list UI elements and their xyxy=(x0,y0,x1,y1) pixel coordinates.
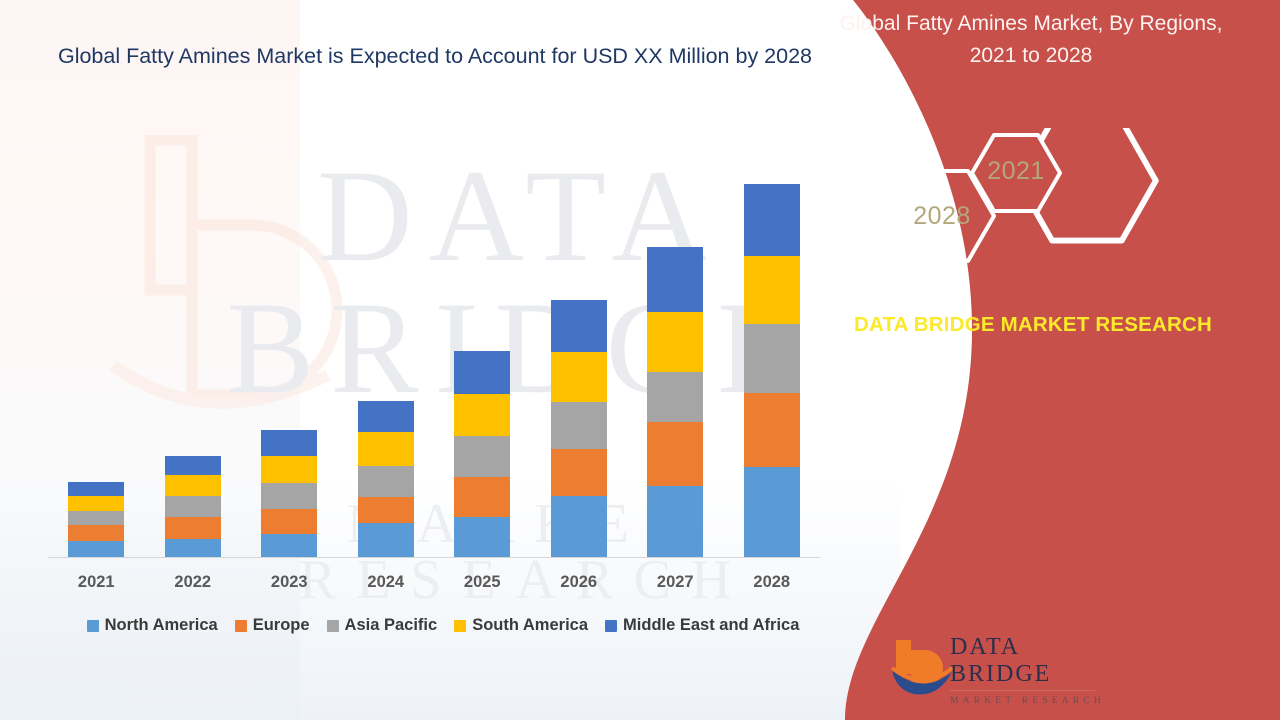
hexagon-2028-label: 2028 xyxy=(906,202,978,231)
bar-segment xyxy=(358,523,414,557)
bar-segment xyxy=(551,449,607,496)
dbmr-logo: DATA BRIDGE MARKET RESEARCH xyxy=(890,632,1110,702)
legend-swatch-icon xyxy=(454,620,466,632)
x-axis-tick-label: 2021 xyxy=(48,573,145,592)
legend-item[interactable]: Asia Pacific xyxy=(327,616,438,635)
bar-segment xyxy=(744,324,800,393)
bar-segment xyxy=(358,432,414,466)
logo-text: DATA BRIDGE MARKET RESEARCH xyxy=(950,634,1110,706)
bar-column xyxy=(724,150,821,557)
logo-subtitle: MARKET RESEARCH xyxy=(950,696,1110,706)
bar-column xyxy=(48,150,145,557)
legend-swatch-icon xyxy=(235,620,247,632)
bar-segment xyxy=(68,482,124,496)
bar-segment xyxy=(261,534,317,557)
logo-divider xyxy=(950,690,1095,691)
bar-segment xyxy=(744,467,800,557)
bar-segment xyxy=(647,422,703,486)
bar-stack xyxy=(454,351,510,557)
x-axis-line xyxy=(48,557,820,558)
bar-column xyxy=(145,150,242,557)
x-axis-tick-label: 2026 xyxy=(531,573,628,592)
bar-column xyxy=(338,150,435,557)
x-axis-tick-label: 2024 xyxy=(338,573,435,592)
legend-item[interactable]: Middle East and Africa xyxy=(605,616,799,635)
legend-item[interactable]: North America xyxy=(87,616,218,635)
legend-swatch-icon xyxy=(87,620,99,632)
legend-item[interactable]: Europe xyxy=(235,616,310,635)
bar-segment xyxy=(358,401,414,432)
bar-segment xyxy=(454,394,510,437)
bar-stack xyxy=(68,482,124,557)
x-axis-tick-label: 2025 xyxy=(434,573,531,592)
hexagon-group: 2028 2021 xyxy=(820,128,1280,288)
x-axis-tick-label: 2027 xyxy=(627,573,724,592)
bar-stack xyxy=(165,456,221,557)
bar-segment xyxy=(165,475,221,496)
bar-segment xyxy=(551,352,607,402)
bar-segment xyxy=(68,496,124,510)
bar-chart-plot xyxy=(48,150,820,557)
legend-label: North America xyxy=(105,616,218,635)
bar-stack xyxy=(551,300,607,557)
bar-segment xyxy=(68,541,124,557)
bar-segment xyxy=(261,430,317,455)
x-axis-tick-label: 2028 xyxy=(724,573,821,592)
hexagon-2021-label: 2021 xyxy=(980,157,1052,186)
bar-segment xyxy=(165,517,221,538)
bar-segment xyxy=(454,351,510,394)
legend-swatch-icon xyxy=(605,620,617,632)
bar-segment xyxy=(68,511,124,525)
bar-segment xyxy=(647,247,703,312)
bar-segment xyxy=(551,402,607,448)
brand-name: DATA BRIDGE MARKET RESEARCH xyxy=(820,310,1280,341)
bar-segment xyxy=(165,456,221,475)
bar-segment xyxy=(165,496,221,517)
bar-column xyxy=(241,150,338,557)
legend-item[interactable]: South America xyxy=(454,616,588,635)
bar-column xyxy=(627,150,724,557)
bar-segment xyxy=(358,466,414,497)
bar-stack xyxy=(358,401,414,557)
bar-stack xyxy=(744,184,800,557)
panel-title: Global Fatty Amines Market, By Regions, … xyxy=(820,8,1280,71)
panel-title-text: Global Fatty Amines Market, By Regions, … xyxy=(840,12,1223,67)
x-axis-tick-label: 2023 xyxy=(241,573,338,592)
chart-legend: North AmericaEuropeAsia PacificSouth Ame… xyxy=(48,616,838,635)
logo-name: DATA BRIDGE xyxy=(950,634,1110,688)
legend-label: Middle East and Africa xyxy=(623,616,799,635)
bar-segment xyxy=(647,312,703,372)
right-red-panel: Global Fatty Amines Market, By Regions, … xyxy=(820,0,1280,720)
bar-stack xyxy=(261,430,317,557)
legend-label: South America xyxy=(472,616,588,635)
bar-segment xyxy=(261,456,317,483)
bar-segment xyxy=(744,393,800,467)
slide-canvas: DATA BRIDGE MARKET RESEARCH Global Fatty… xyxy=(0,0,1280,720)
bar-segment xyxy=(454,517,510,557)
chart-title: Global Fatty Amines Market is Expected t… xyxy=(40,40,830,73)
legend-label: Asia Pacific xyxy=(345,616,438,635)
bar-segment xyxy=(68,525,124,540)
bar-segment xyxy=(744,184,800,256)
bar-segment xyxy=(261,509,317,534)
x-axis-tick-label: 2022 xyxy=(145,573,242,592)
bar-segment xyxy=(647,486,703,558)
bar-segment xyxy=(358,497,414,523)
bar-segment xyxy=(744,256,800,325)
bar-segment xyxy=(551,496,607,557)
bar-segment xyxy=(165,539,221,557)
bar-column xyxy=(531,150,628,557)
bar-segment xyxy=(551,300,607,352)
bar-segment xyxy=(261,483,317,509)
bar-segment xyxy=(647,372,703,422)
bar-segment xyxy=(454,477,510,518)
bar-segment xyxy=(454,436,510,477)
legend-label: Europe xyxy=(253,616,310,635)
bar-stack xyxy=(647,247,703,557)
x-axis-labels: 20212022202320242025202620272028 xyxy=(48,573,820,592)
legend-swatch-icon xyxy=(327,620,339,632)
bar-column xyxy=(434,150,531,557)
